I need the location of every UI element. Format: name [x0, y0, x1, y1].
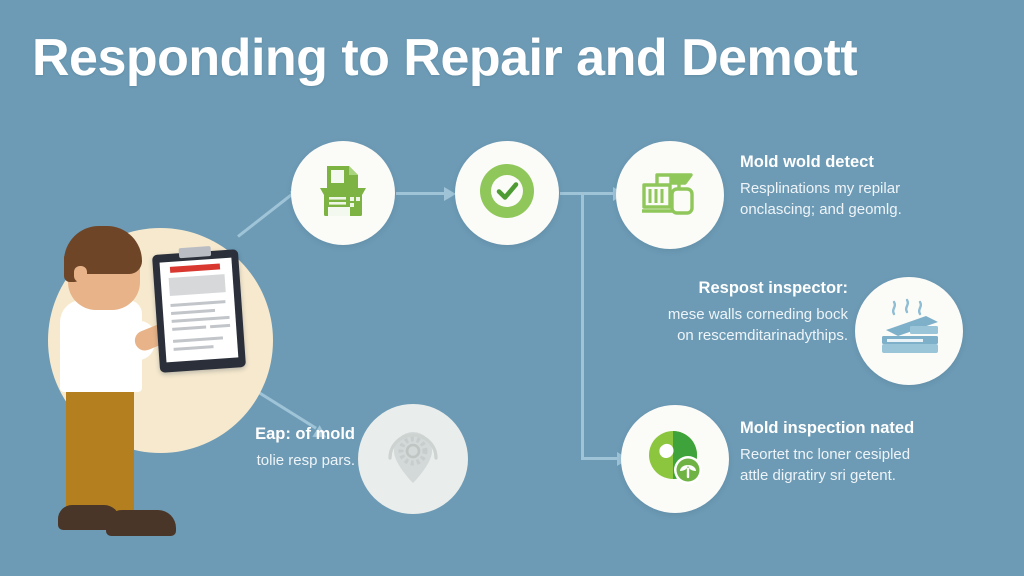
check-circle-icon	[474, 158, 540, 229]
clipboard-text-line	[172, 326, 206, 331]
spray-cleaning-icon	[638, 163, 702, 228]
node-book-circle[interactable]	[855, 277, 963, 385]
block-heading: Respost inspector:	[600, 278, 848, 299]
clipboard-clip	[179, 246, 212, 258]
connector-branch-to-spray	[581, 192, 617, 195]
node-spray-circle[interactable]	[616, 141, 724, 249]
ear	[74, 266, 87, 282]
node-document-circle[interactable]	[291, 141, 395, 245]
clipboard-text-line	[210, 324, 230, 328]
clipboard-text-line	[171, 309, 215, 315]
node-gearpin-circle[interactable]	[358, 404, 468, 514]
clipboard-text-line	[172, 316, 230, 323]
text-block-mold-inspection-nated: Mold inspection nated Reortet tnc loner …	[740, 418, 1012, 487]
text-block-mold-wold-detect: Mold wold detect Resplinations my repila…	[740, 152, 1010, 221]
pants-leg-back	[94, 382, 134, 517]
block-line: mese walls corneding bock	[600, 304, 848, 326]
clipboard-text-line	[170, 300, 225, 306]
text-block-eap-of-mold: Eap: of mold tolie resp pars.	[150, 424, 355, 471]
block-line: Reortet tnc loner cesipled	[740, 444, 1012, 466]
clipboard-red-bar	[170, 263, 220, 272]
clipboard	[152, 249, 246, 373]
infographic-canvas: Responding to Repair and Demott	[0, 0, 1024, 576]
block-line: on rescemditarinadythips.	[600, 325, 848, 347]
block-heading: Mold wold detect	[740, 152, 1010, 173]
clipboard-text-line	[173, 336, 223, 342]
steaming-book-icon	[874, 298, 944, 365]
shoe-right	[106, 510, 176, 536]
block-line: tolie resp pars.	[150, 450, 355, 472]
connector-branch-trunk	[581, 192, 584, 460]
connector-document-to-check	[396, 192, 448, 195]
node-pie-circle[interactable]	[621, 405, 729, 513]
clipboard-paper	[160, 258, 239, 363]
block-line: Resplinations my repilar	[740, 178, 1010, 200]
pie-leaf-icon	[642, 424, 708, 495]
document-printer-icon	[314, 162, 372, 225]
node-check-circle[interactable]	[455, 141, 559, 245]
block-heading: Eap: of mold	[150, 424, 355, 445]
block-line: onclascing; and geomlg.	[740, 199, 1010, 221]
clipboard-header-block	[169, 274, 226, 296]
page-title: Responding to Repair and Demott	[32, 30, 992, 86]
block-line: attle digratiry sri getent.	[740, 465, 1012, 487]
clipboard-text-line	[174, 345, 214, 350]
block-heading: Mold inspection nated	[740, 418, 1012, 439]
text-block-respost-inspector: Respost inspector: mese walls corneding …	[600, 278, 848, 347]
gear-location-pin-icon	[380, 422, 446, 497]
connector-branch-to-pie	[581, 457, 621, 460]
inspector-illustration	[38, 222, 268, 552]
